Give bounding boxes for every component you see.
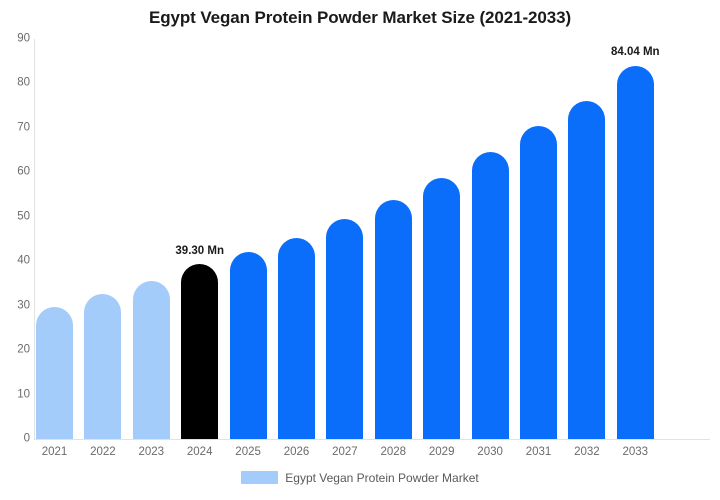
bar-2021[interactable] — [36, 307, 73, 439]
x-axis-line — [34, 439, 710, 440]
data-label-2024: 39.30 Mn — [175, 245, 224, 257]
bar-2027[interactable] — [326, 219, 363, 439]
bar-2026[interactable] — [278, 238, 315, 439]
x-axis-tick-2030: 2030 — [472, 446, 509, 460]
chart-legend: Egypt Vegan Protein Powder Market — [0, 471, 720, 484]
bar-2032[interactable] — [568, 101, 605, 439]
bar-2028[interactable] — [375, 200, 412, 439]
legend-label-market: Egypt Vegan Protein Powder Market — [285, 472, 478, 484]
data-label-2033: 84.04 Mn — [611, 46, 660, 58]
y-axis-tick: 90 — [4, 33, 30, 45]
legend-swatch-market — [241, 471, 278, 484]
bar-2033[interactable] — [617, 66, 654, 440]
y-axis-line — [34, 39, 35, 440]
y-axis-tick-labels: 0102030405060708090 — [0, 0, 30, 500]
x-axis-tick-2029: 2029 — [423, 446, 460, 460]
bar-2023[interactable] — [133, 281, 170, 439]
x-axis-tick-2025: 2025 — [230, 446, 267, 460]
x-axis-tick-2031: 2031 — [520, 446, 557, 460]
bar-2031[interactable] — [520, 126, 557, 439]
y-axis-tick: 60 — [4, 167, 30, 179]
bar-2024[interactable] — [181, 264, 218, 439]
bar-2025[interactable] — [230, 252, 267, 439]
x-axis-tick-2028: 2028 — [375, 446, 412, 460]
bars-layer — [36, 39, 710, 439]
y-axis-tick: 40 — [4, 255, 30, 267]
y-axis-tick: 50 — [4, 211, 30, 223]
bar-2030[interactable] — [472, 152, 509, 439]
chart-title: Egypt Vegan Protein Powder Market Size (… — [0, 8, 720, 28]
y-axis-tick: 10 — [4, 389, 30, 401]
x-axis-tick-2022: 2022 — [84, 446, 121, 460]
x-axis-tick-2027: 2027 — [326, 446, 363, 460]
bar-2029[interactable] — [423, 178, 460, 439]
y-axis-tick: 20 — [4, 344, 30, 356]
x-axis-tick-2032: 2032 — [568, 446, 605, 460]
x-axis-tick-2026: 2026 — [278, 446, 315, 460]
chart-container: Egypt Vegan Protein Powder Market Size (… — [0, 0, 720, 500]
x-axis-tick-labels: 2021202220232024202520262027202820292030… — [36, 446, 710, 464]
x-axis-tick-2024: 2024 — [181, 446, 218, 460]
y-axis-tick: 70 — [4, 122, 30, 134]
bar-2022[interactable] — [84, 294, 121, 439]
x-axis-tick-2033: 2033 — [617, 446, 654, 460]
x-axis-tick-2023: 2023 — [133, 446, 170, 460]
y-axis-tick: 80 — [4, 78, 30, 90]
y-axis-tick: 0 — [4, 433, 30, 445]
y-axis-tick: 30 — [4, 300, 30, 312]
x-axis-tick-2021: 2021 — [36, 446, 73, 460]
